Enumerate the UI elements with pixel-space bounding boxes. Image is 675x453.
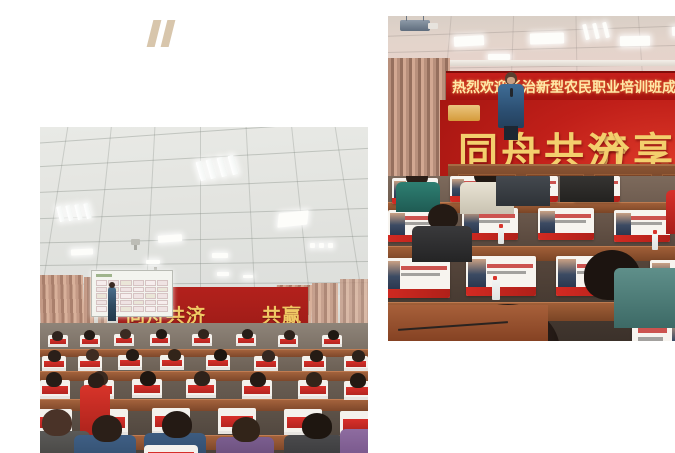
ceiling-light-panel bbox=[454, 35, 484, 47]
attendee-head bbox=[250, 372, 266, 387]
water-bottle bbox=[498, 228, 504, 244]
attendee-head bbox=[46, 372, 62, 387]
attendee-head bbox=[302, 413, 332, 439]
attendee-head bbox=[198, 329, 209, 339]
water-bottle bbox=[492, 280, 500, 300]
attendee-head bbox=[48, 350, 61, 362]
attendee-head bbox=[84, 330, 95, 340]
water-bottle bbox=[652, 234, 658, 250]
attendee-body bbox=[560, 176, 614, 202]
led-welcome-banner: 热烈欢迎长治新型农民职业培训班成员莅临参观学习 bbox=[446, 71, 675, 100]
quote-stroke-two bbox=[161, 20, 176, 47]
attendee-head bbox=[284, 330, 295, 340]
ceiling-light-spot bbox=[328, 243, 333, 248]
projection-screen bbox=[91, 270, 173, 317]
ceiling-light bbox=[227, 155, 238, 176]
photo-left-scene: 同舟共济 共赢 中国共产党山西中农化京都委员会 bbox=[40, 127, 368, 453]
attendee-body bbox=[496, 176, 550, 206]
photo-right-scene: 热烈欢迎长治新型农民职业培训班成员莅临参观学习 同舟共济 分享共赢 中国共产党山… bbox=[388, 16, 675, 341]
attendee-head bbox=[120, 329, 131, 339]
portrait-seat-cover bbox=[466, 256, 536, 296]
attendee-head bbox=[42, 409, 72, 436]
portrait-seat-cover bbox=[538, 208, 594, 240]
ceiling-light bbox=[195, 161, 206, 182]
attendee-head bbox=[162, 411, 192, 438]
attendee-head bbox=[156, 329, 167, 339]
ceiling-light bbox=[65, 205, 74, 222]
presenter-legs bbox=[504, 126, 518, 140]
ceiling-light-spot bbox=[319, 243, 324, 248]
ceiling-light-panel bbox=[243, 275, 253, 278]
ceiling-light-panel bbox=[620, 36, 650, 47]
ceiling-light-panel bbox=[217, 272, 229, 276]
attendee-head bbox=[328, 330, 339, 340]
attendee-head bbox=[310, 350, 323, 362]
attendee-head bbox=[168, 349, 181, 361]
ceiling-light-panel bbox=[146, 260, 160, 264]
led-banner-text: 热烈欢迎长治新型农民职业培训班成员莅临参观学习 bbox=[446, 77, 675, 97]
slide-header-bar bbox=[96, 274, 112, 277]
attendee-head bbox=[232, 417, 260, 442]
slide-content-grid bbox=[96, 280, 168, 312]
photo-stage-banner-closeup[interactable]: 热烈欢迎长治新型农民职业培训班成员莅临参观学习 同舟共济 分享共赢 中国共产党山… bbox=[388, 16, 675, 341]
ceiling-light-panel bbox=[277, 210, 308, 227]
audience-seating-area bbox=[40, 323, 368, 453]
attendee-head bbox=[242, 329, 253, 339]
organization-logo bbox=[448, 105, 480, 121]
attendee-head bbox=[352, 350, 365, 362]
ceiling-light-panel bbox=[530, 32, 564, 44]
attendee-head bbox=[214, 349, 227, 361]
attendee-head bbox=[194, 371, 210, 386]
ceiling-light bbox=[592, 23, 600, 39]
ceiling-light bbox=[216, 157, 227, 178]
attendee-head bbox=[126, 349, 139, 361]
attendee-head bbox=[88, 373, 104, 388]
microphone-icon bbox=[510, 88, 513, 97]
attendee-body bbox=[614, 268, 675, 328]
ceiling-light-spot bbox=[310, 243, 315, 248]
portrait-seat-cover bbox=[388, 258, 450, 298]
wall-trim bbox=[446, 60, 675, 66]
seat-cover-front bbox=[144, 445, 198, 453]
ceiling-light bbox=[582, 24, 590, 40]
attendee-head bbox=[262, 350, 275, 362]
projector-mount bbox=[134, 245, 137, 250]
ceiling-light-panel bbox=[212, 253, 228, 258]
attendee-head bbox=[306, 372, 322, 387]
ceiling-projector-icon bbox=[400, 20, 430, 31]
quote-stroke-one bbox=[147, 20, 162, 47]
attendee-head bbox=[92, 415, 122, 442]
opening-quote-icon bbox=[148, 20, 180, 50]
presenter-figure bbox=[498, 72, 524, 140]
attendee-head bbox=[52, 331, 63, 341]
attendee-head bbox=[86, 349, 99, 361]
ceiling-light-panel bbox=[71, 248, 93, 255]
portrait-seat-cover bbox=[614, 210, 670, 242]
ceiling-light bbox=[56, 206, 65, 223]
ceiling-light bbox=[602, 22, 610, 38]
ceiling-light-panel bbox=[158, 234, 182, 243]
attendee-foreground bbox=[340, 429, 368, 453]
audience-seating-area bbox=[388, 176, 675, 341]
photo-training-hall-wide[interactable]: 同舟共济 共赢 中国共产党山西中农化京都委员会 bbox=[40, 127, 368, 453]
attendee-head bbox=[140, 371, 156, 386]
presenter-figure bbox=[108, 287, 116, 321]
ceiling-light bbox=[205, 159, 216, 180]
attendee-body bbox=[412, 226, 472, 262]
attendee-head bbox=[350, 373, 366, 388]
attendee-body bbox=[666, 190, 675, 234]
